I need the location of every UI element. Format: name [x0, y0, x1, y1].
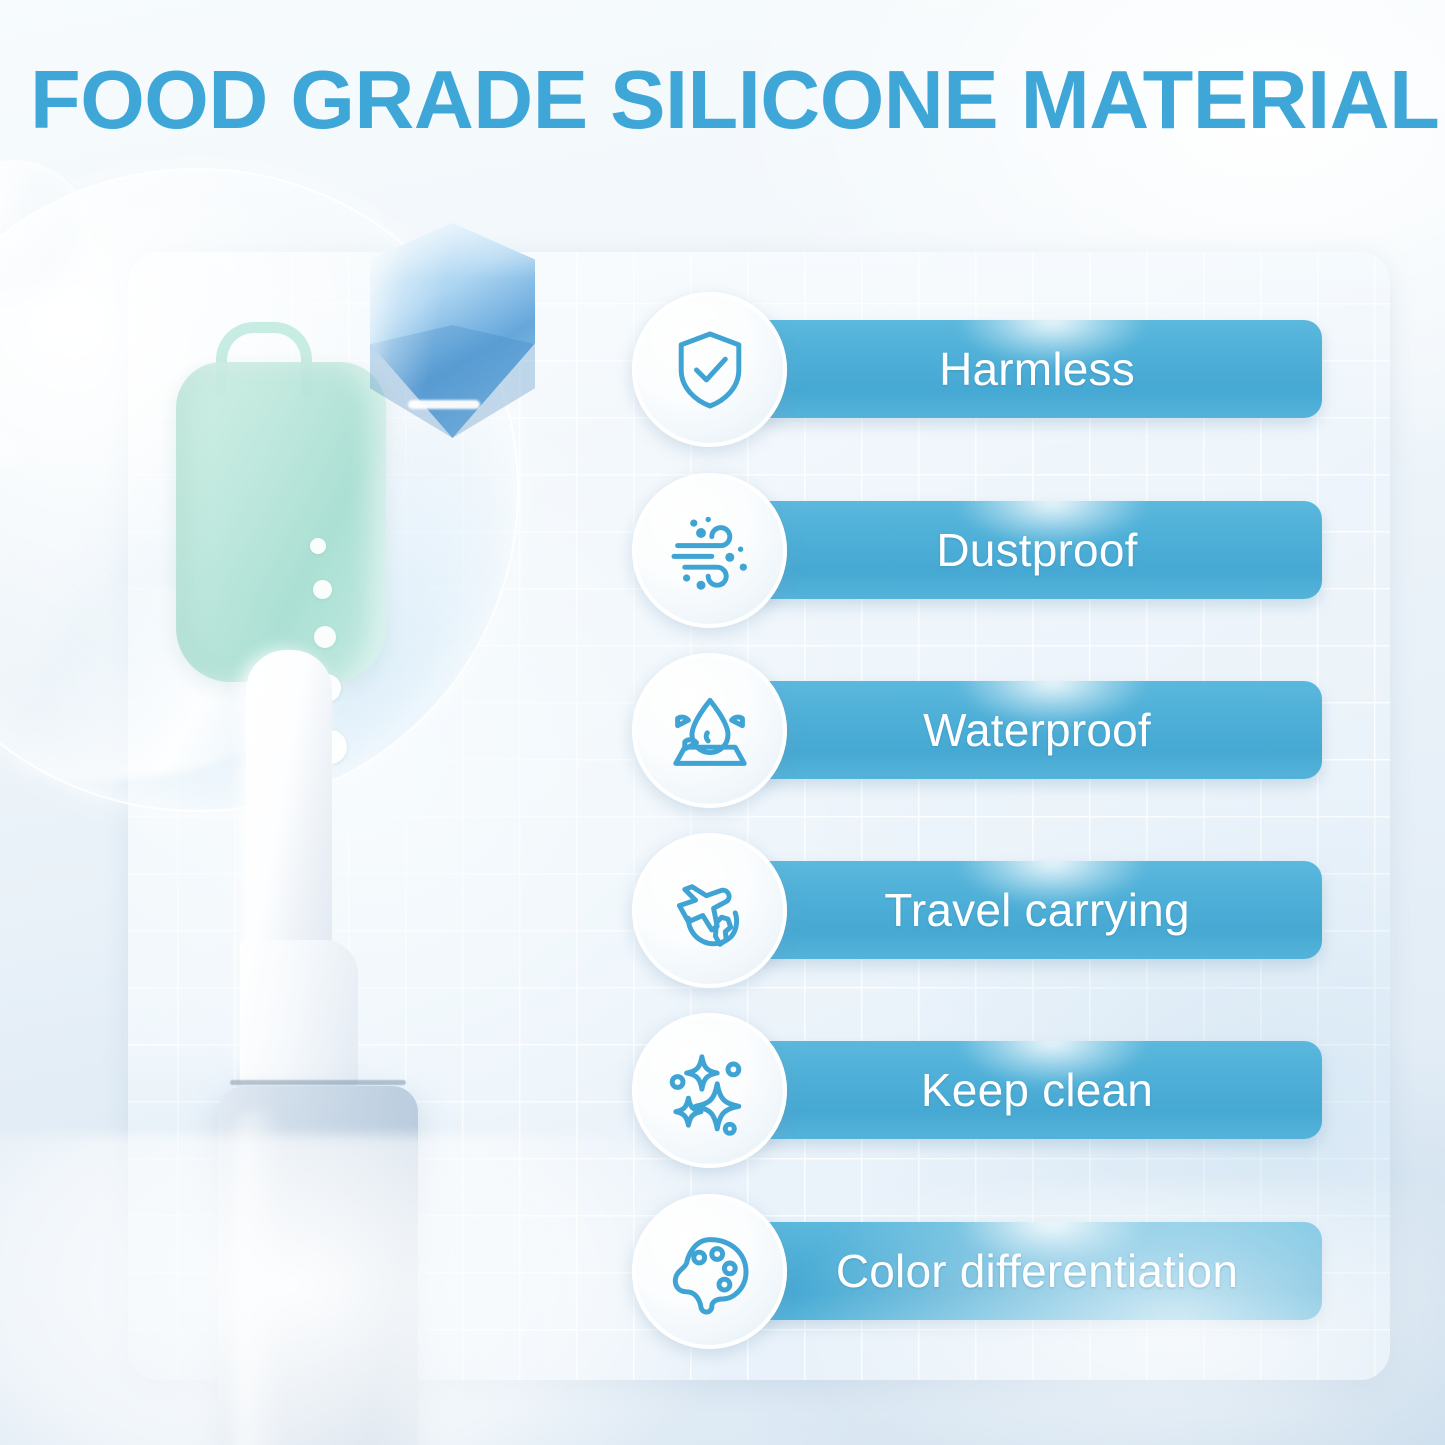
- feature-pill[interactable]: Waterproof: [752, 681, 1322, 779]
- paint-palette-icon: [632, 1194, 787, 1349]
- feature-row-color-differentiation[interactable]: Color differentiation: [632, 1194, 1322, 1354]
- product-infographic-poster: FOOD GRADE SILICONE MATERIAL: [0, 0, 1445, 1445]
- feature-label: Harmless: [939, 342, 1135, 396]
- feature-pill[interactable]: Travel carrying: [752, 861, 1322, 959]
- feature-row-keep-clean[interactable]: Keep clean: [632, 1013, 1322, 1173]
- feature-label: Dustproof: [936, 523, 1137, 577]
- feature-row-travel-carrying[interactable]: Travel carrying: [632, 833, 1322, 993]
- shield-check-icon: [632, 292, 787, 447]
- feature-row-harmless[interactable]: Harmless: [632, 292, 1322, 452]
- feature-pill[interactable]: Keep clean: [752, 1041, 1322, 1139]
- airplane-globe-icon: [632, 833, 787, 988]
- feature-pill[interactable]: Harmless: [752, 320, 1322, 418]
- feature-row-waterproof[interactable]: Waterproof: [632, 653, 1322, 813]
- feature-pill[interactable]: Color differentiation: [752, 1222, 1322, 1320]
- feature-row-dustproof[interactable]: Dustproof: [632, 473, 1322, 633]
- water-droplet-icon: [632, 653, 787, 808]
- feature-label: Keep clean: [921, 1063, 1153, 1117]
- feature-label: Color differentiation: [836, 1244, 1238, 1298]
- feature-list: Harmless Dustproof: [0, 0, 1445, 1445]
- feature-label: Waterproof: [923, 703, 1151, 757]
- wind-dust-icon: [632, 473, 787, 628]
- sparkles-icon: [632, 1013, 787, 1168]
- feature-pill[interactable]: Dustproof: [752, 501, 1322, 599]
- feature-label: Travel carrying: [884, 883, 1189, 937]
